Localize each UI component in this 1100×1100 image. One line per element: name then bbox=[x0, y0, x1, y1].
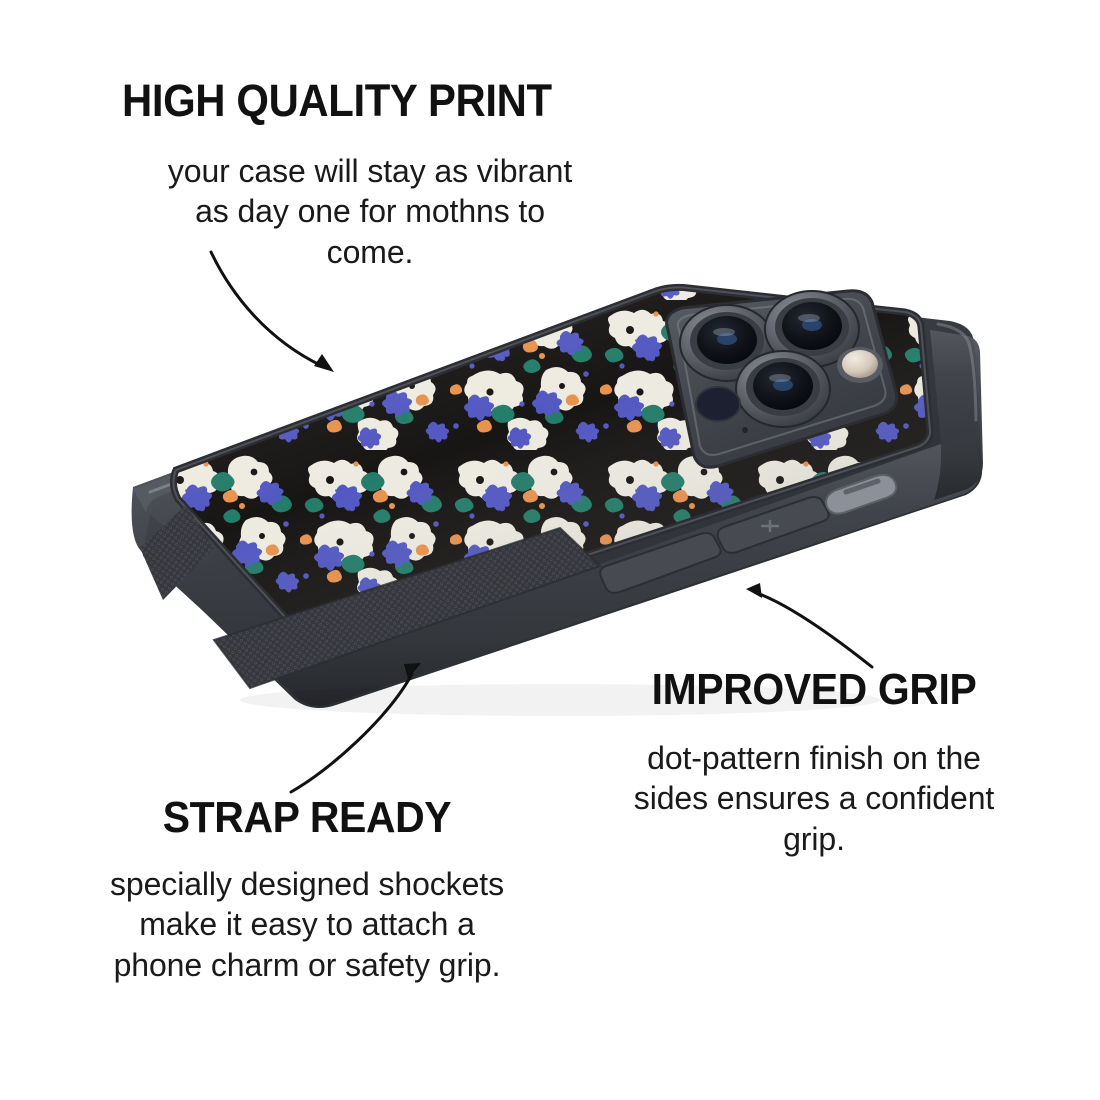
feature-body-strap-ready: specially designed shockets make it easy… bbox=[92, 864, 522, 985]
feature-body-improved-grip: dot-pattern finish on the sides ensures … bbox=[614, 738, 1014, 859]
camera-flash bbox=[837, 347, 883, 383]
feature-high-quality-print: HIGH QUALITY PRINT your case will stay a… bbox=[122, 78, 652, 272]
camera-lens-lower bbox=[736, 351, 830, 427]
feature-strap-ready: STRAP READY specially designed shockets … bbox=[92, 796, 522, 985]
feature-improved-grip: IMPROVED GRIP dot-pattern finish on the … bbox=[614, 668, 1014, 859]
feature-heading-high-quality-print: HIGH QUALITY PRINT bbox=[122, 78, 615, 123]
feature-heading-strap-ready: STRAP READY bbox=[107, 796, 507, 840]
feature-heading-improved-grip: IMPROVED GRIP bbox=[628, 668, 1000, 712]
infographic-canvas: HIGH QUALITY PRINT your case will stay a… bbox=[0, 0, 1100, 1100]
microphone-dot bbox=[742, 427, 748, 433]
feature-body-high-quality-print: your case will stay as vibrant as day on… bbox=[160, 151, 580, 272]
lidar-sensor bbox=[696, 387, 740, 421]
